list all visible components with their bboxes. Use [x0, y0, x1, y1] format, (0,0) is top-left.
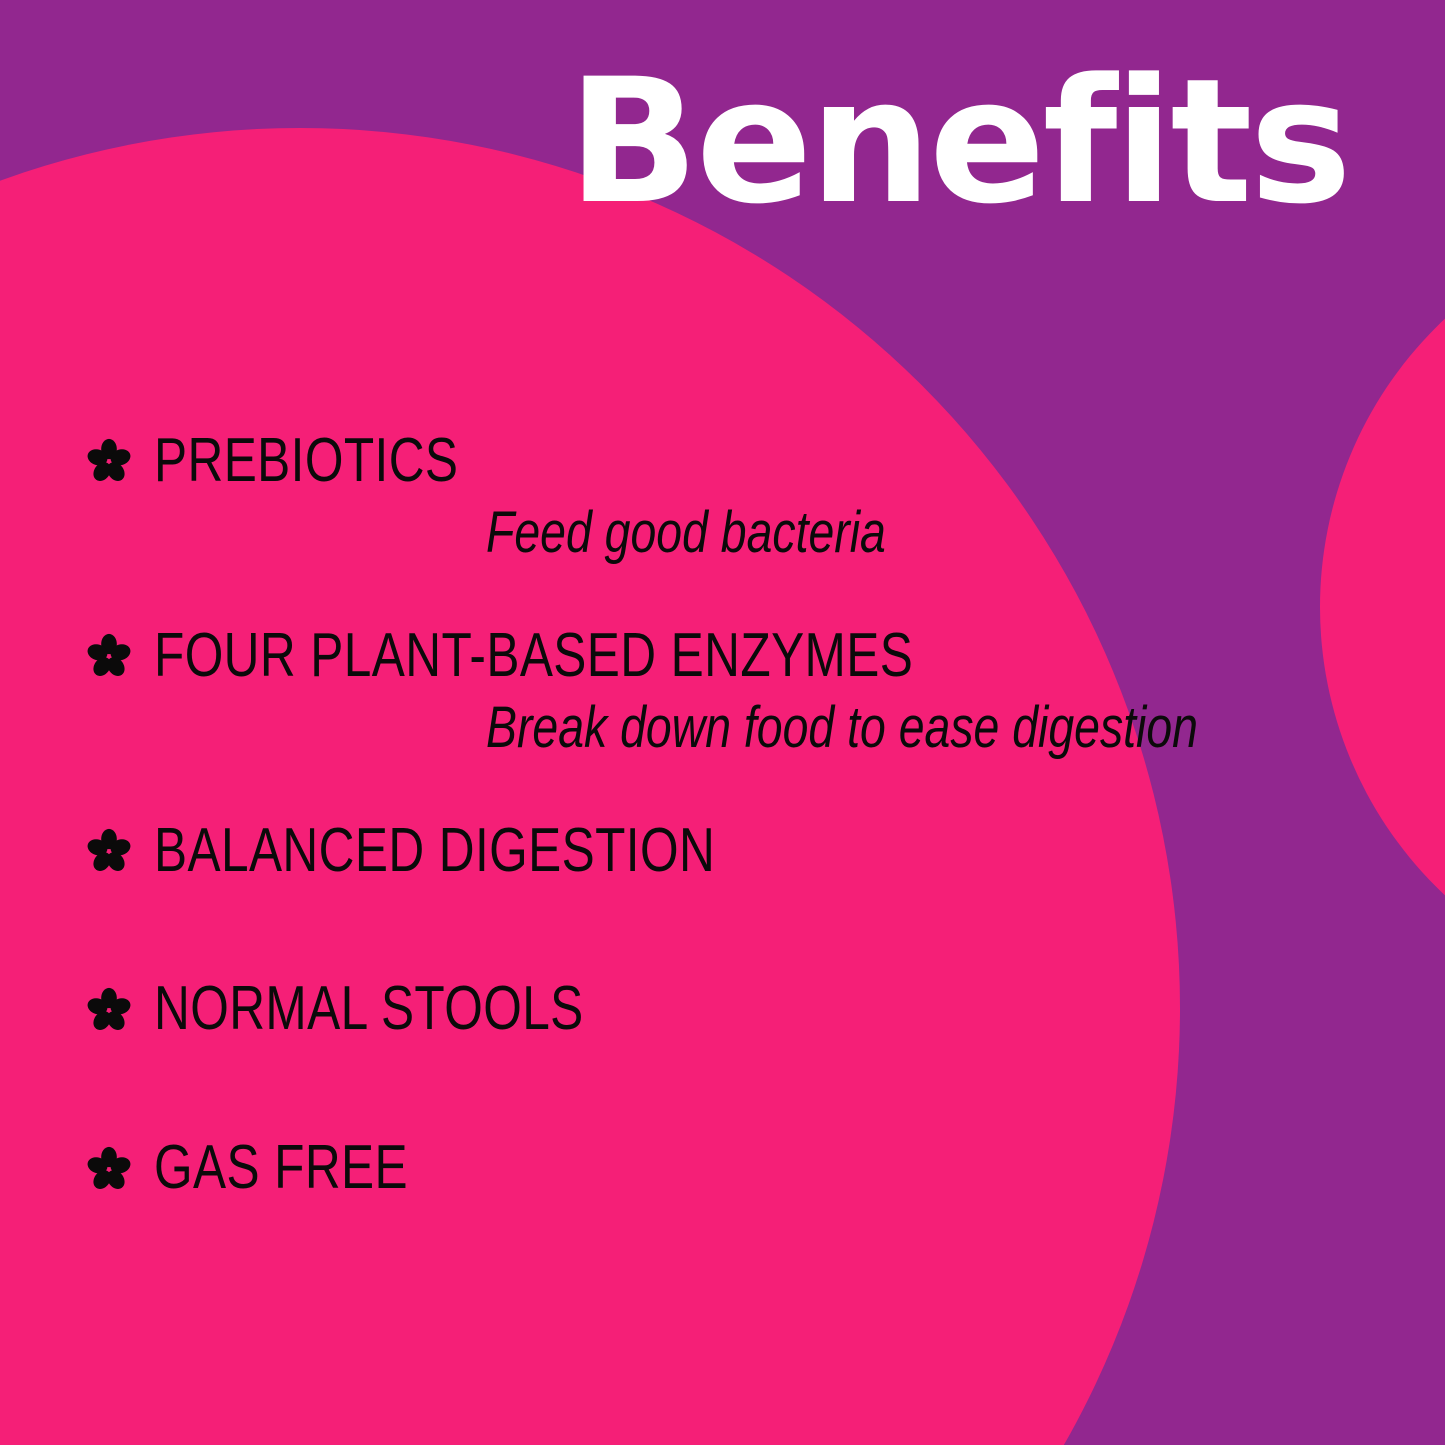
benefits-list: PREBIOTICS Feed good bacteria FOUR PLANT…	[86, 428, 1376, 1202]
benefit-subtitle: Feed good bacteria	[486, 501, 1198, 565]
benefits-graphic: Benefits PREBIOTICS Feed good bacteria	[0, 0, 1445, 1445]
benefit-item-gas-free: GAS FREE	[86, 1135, 1376, 1202]
flower-icon	[86, 828, 132, 874]
benefit-label: NORMAL STOOLS	[154, 976, 584, 1043]
title-container: Benefits	[0, 56, 1445, 228]
benefit-label: BALANCED DIGESTION	[154, 818, 715, 885]
benefit-head: FOUR PLANT-BASED ENZYMES	[86, 623, 1376, 690]
flower-icon	[86, 633, 132, 679]
flower-icon	[86, 438, 132, 484]
benefit-label: FOUR PLANT-BASED ENZYMES	[154, 623, 913, 690]
spacer	[86, 1043, 1376, 1135]
benefit-label: PREBIOTICS	[154, 428, 458, 495]
benefit-subtitle: Break down food to ease digestion	[486, 696, 1198, 760]
benefit-label: GAS FREE	[154, 1135, 408, 1202]
benefit-item-enzymes: FOUR PLANT-BASED ENZYMES Break down food…	[86, 623, 1376, 760]
flower-icon	[86, 987, 132, 1033]
spacer	[86, 565, 1376, 623]
benefit-item-normal-stools: NORMAL STOOLS	[86, 976, 1376, 1043]
benefit-head: BALANCED DIGESTION	[86, 818, 1376, 885]
benefit-head: GAS FREE	[86, 1135, 1376, 1202]
spacer	[86, 884, 1376, 976]
benefit-item-prebiotics: PREBIOTICS Feed good bacteria	[86, 428, 1376, 565]
flower-icon	[86, 1146, 132, 1192]
benefit-item-balanced-digestion: BALANCED DIGESTION	[86, 818, 1376, 885]
spacer	[86, 760, 1376, 818]
page-title: Benefits	[568, 56, 1349, 228]
benefit-head: PREBIOTICS	[86, 428, 1376, 495]
benefit-head: NORMAL STOOLS	[86, 976, 1376, 1043]
